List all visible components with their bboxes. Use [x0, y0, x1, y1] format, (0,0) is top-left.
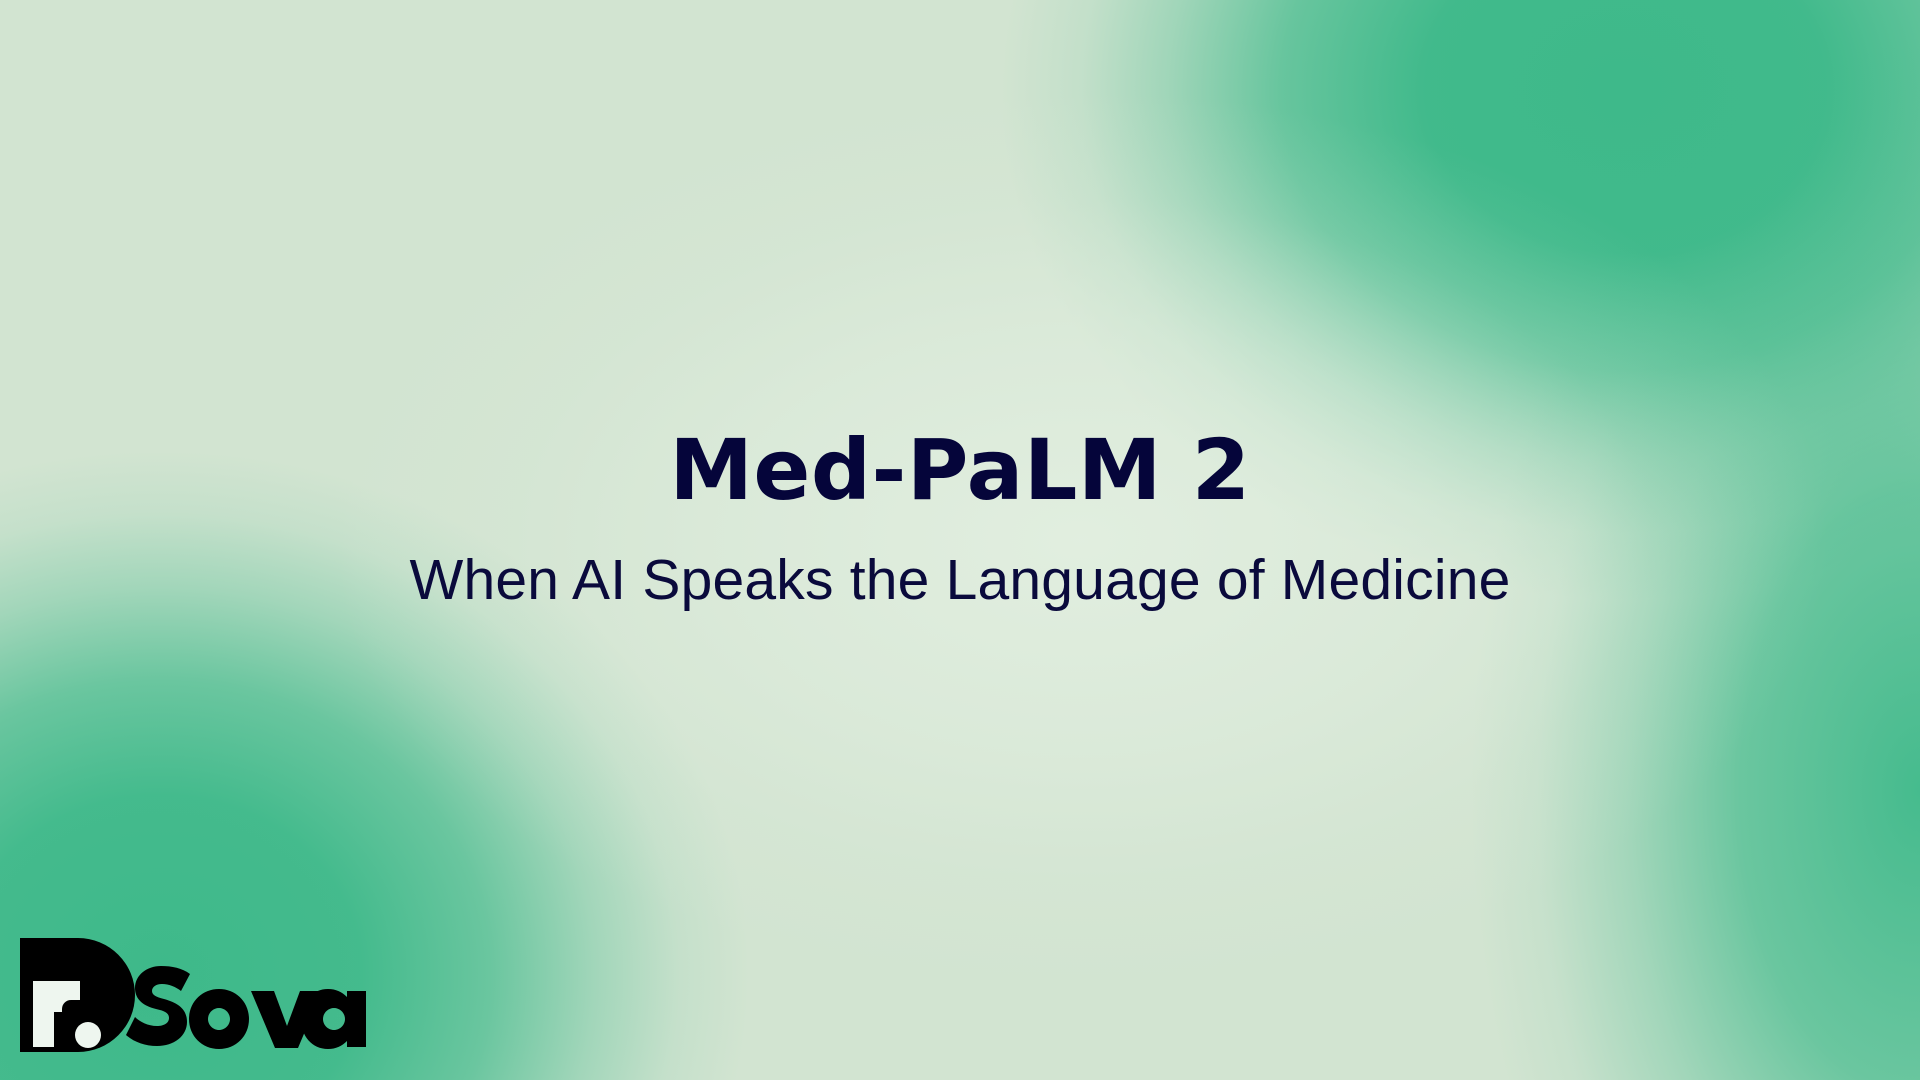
title-slide: Med-PaLM 2 When AI Speaks the Language o… [0, 0, 1920, 1080]
dr-sova-logo[interactable] [16, 932, 366, 1052]
slide-text-block: Med-PaLM 2 When AI Speaks the Language o… [0, 0, 1920, 1080]
logo-wordmark [126, 966, 366, 1049]
dr-sova-logo-svg [16, 932, 366, 1052]
logo-d-mark-icon [20, 938, 135, 1052]
slide-subtitle: When AI Speaks the Language of Medicine [409, 548, 1510, 614]
slide-title: Med-PaLM 2 [669, 427, 1250, 514]
